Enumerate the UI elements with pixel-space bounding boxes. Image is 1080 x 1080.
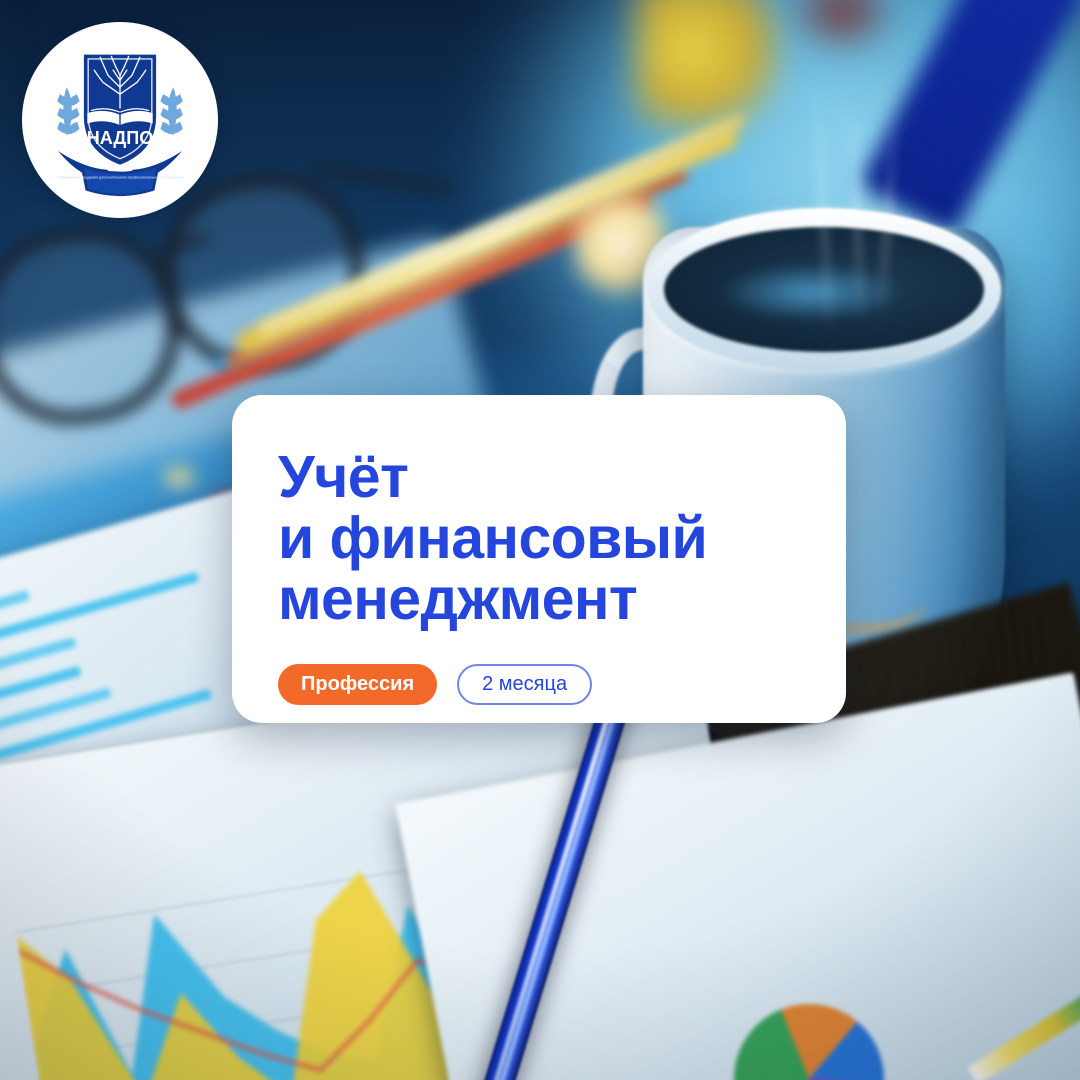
- nadpo-logo-badge[interactable]: НАДПО Национальная академия дополнительн…: [22, 22, 218, 218]
- course-title: Учёт и финансовый менеджмент: [278, 447, 800, 630]
- ribbon-microtext: Национальная академия дополнительного пр…: [57, 175, 183, 179]
- nadpo-emblem-icon: НАДПО Национальная академия дополнительн…: [34, 34, 206, 206]
- course-chips: Профессия 2 месяца: [278, 664, 800, 705]
- wheat-ears-icon: [57, 87, 79, 135]
- logo-acronym: НАДПО: [87, 128, 154, 148]
- wheat-ears-icon-right: [160, 87, 182, 135]
- course-card: Учёт и финансовый менеджмент Профессия 2…: [232, 395, 846, 723]
- promo-poster: НАДПО Национальная академия дополнительн…: [0, 0, 1080, 1080]
- chip-duration[interactable]: 2 месяца: [457, 664, 592, 705]
- chip-profession[interactable]: Профессия: [278, 664, 437, 705]
